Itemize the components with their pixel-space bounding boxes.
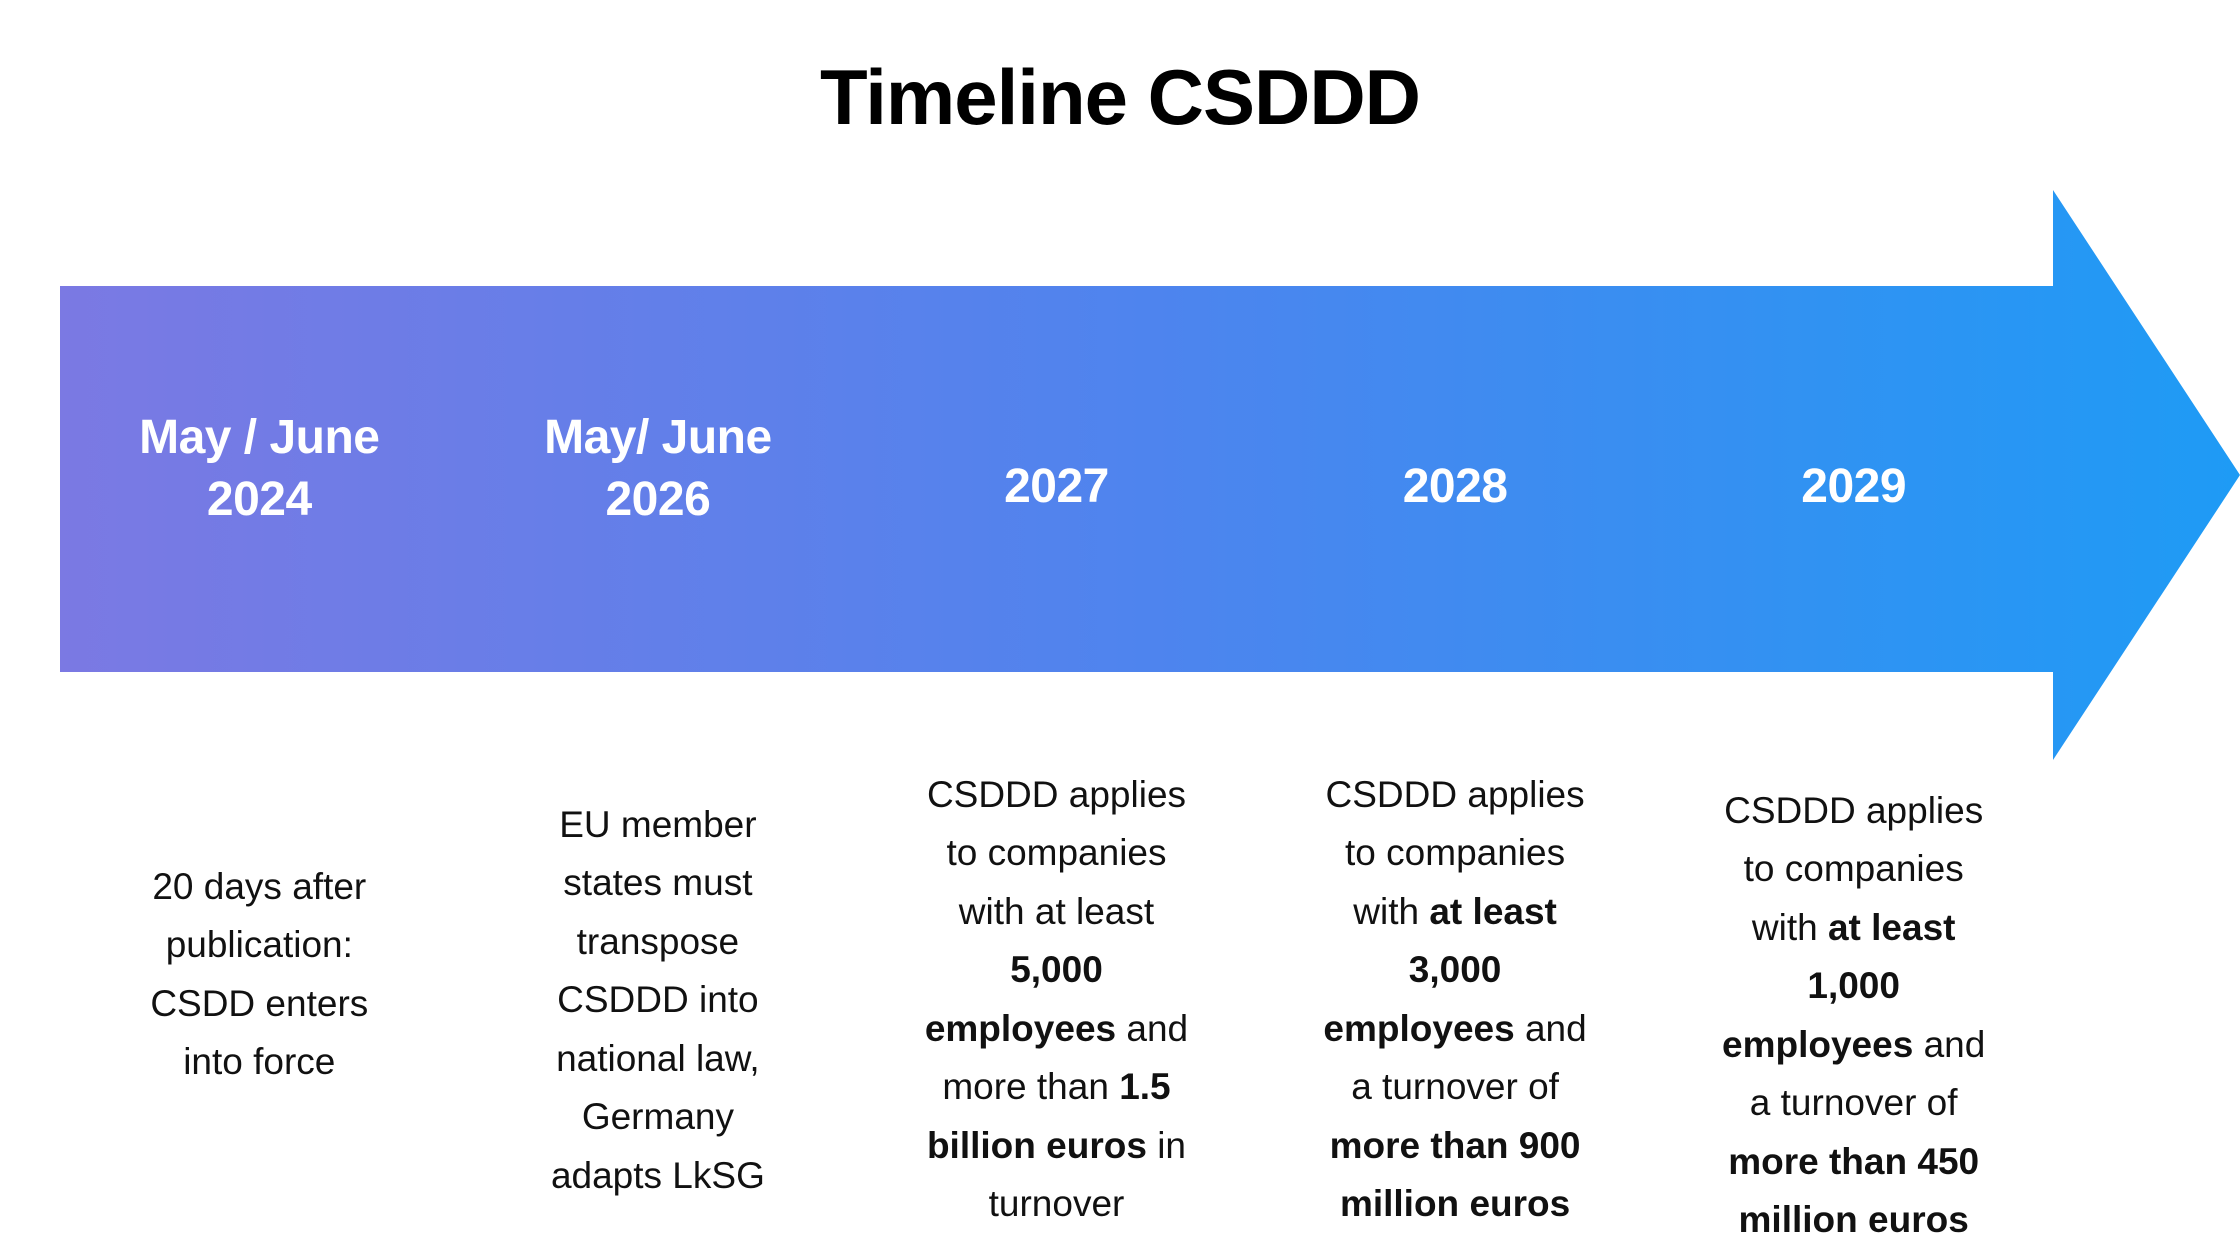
caption-row: 20 days after publication: CSDD enters i…	[60, 760, 2053, 1240]
caption-text: EU member states must transpose CSDDD in…	[523, 760, 793, 1205]
caption-text: CSDDD applies to companies with at least…	[1320, 760, 1590, 1234]
page-title: Timeline CSDDD	[0, 58, 2240, 136]
caption-column-2024: 20 days after publication: CSDD enters i…	[60, 760, 459, 1092]
timeline-arrow-shape	[60, 190, 2240, 760]
timeline-infographic: Timeline CSDDD May / June 2024 May/ June…	[0, 0, 2240, 1260]
caption-text: CSDDD applies to companies with at least…	[921, 760, 1191, 1234]
caption-column-2026: EU member states must transpose CSDDD in…	[459, 760, 858, 1205]
timeline-arrow	[60, 190, 2240, 760]
caption-text: CSDDD applies to companies with at least…	[1711, 760, 1996, 1250]
caption-text: 20 days after publication: CSDD enters i…	[124, 760, 394, 1092]
caption-column-2029: CSDDD applies to companies with at least…	[1654, 760, 2053, 1250]
caption-column-2028: CSDDD applies to companies with at least…	[1256, 760, 1655, 1234]
caption-column-2027: CSDDD applies to companies with at least…	[857, 760, 1256, 1234]
